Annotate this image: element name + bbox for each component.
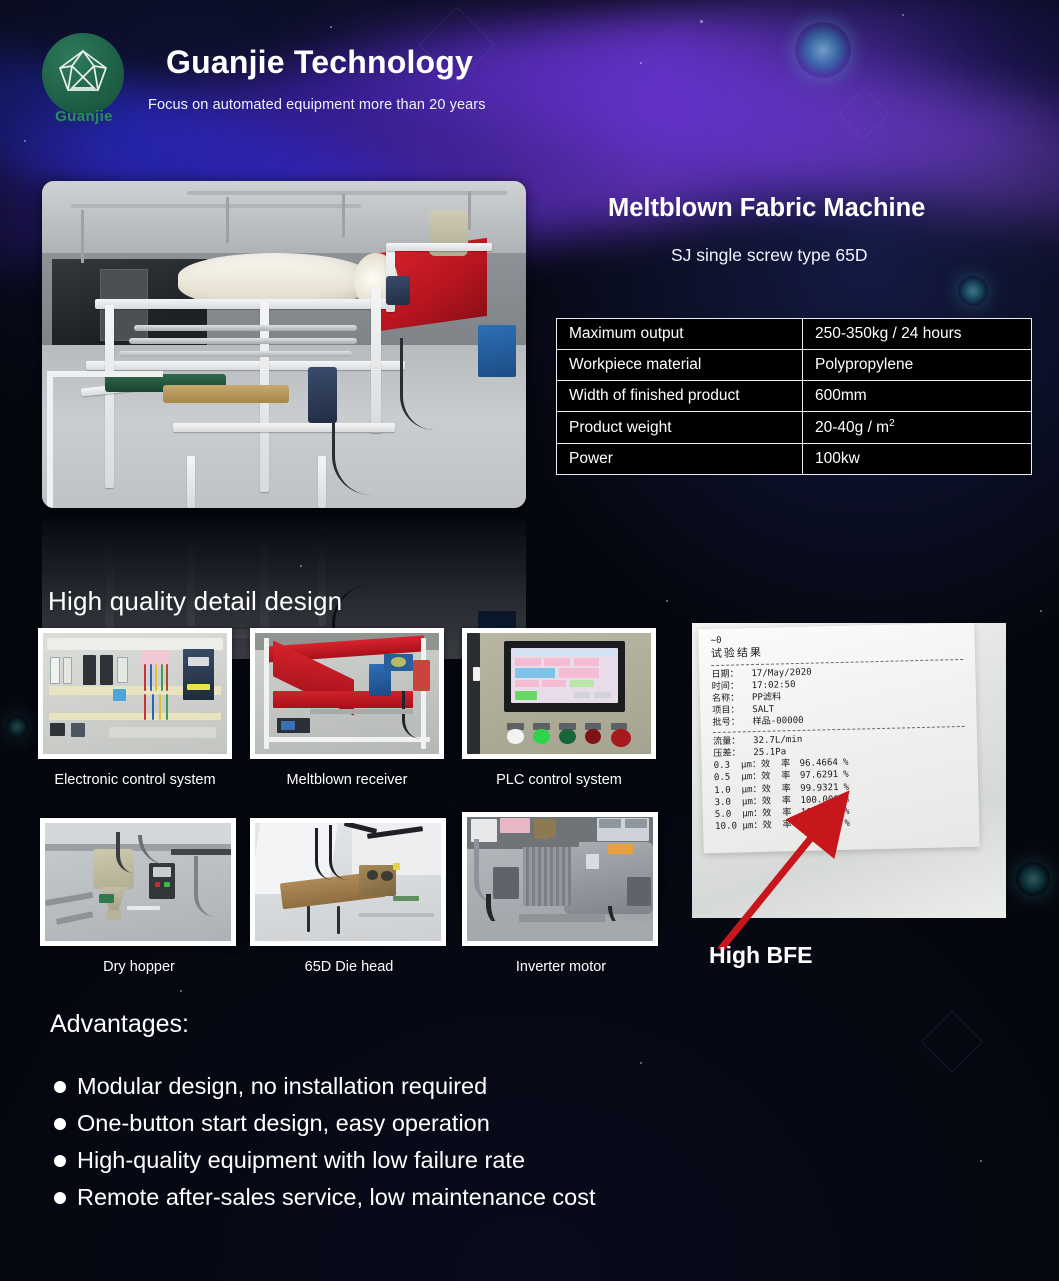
field-value: PP滤料 xyxy=(752,691,781,704)
bfe-label: High BFE xyxy=(709,942,813,969)
field-value: 样品-00000 xyxy=(753,715,804,728)
thumb-image xyxy=(467,817,653,941)
spec-value: 600mm xyxy=(803,381,1032,412)
gallery-caption: Electronic control system xyxy=(18,772,252,788)
list-item: High-quality equipment with low failure … xyxy=(54,1142,596,1179)
advantage-text: One-button start design, easy operation xyxy=(77,1110,490,1137)
sparkle-dot xyxy=(980,1160,982,1162)
table-row: Maximum output 250-350kg / 24 hours xyxy=(557,319,1032,350)
field-label: 日期： xyxy=(712,668,752,681)
spec-value: Polypropylene xyxy=(803,350,1032,381)
gallery-thumb-plc-control-system xyxy=(462,628,656,759)
advantages-list: Modular design, no installation required… xyxy=(54,1068,596,1216)
specification-table: Maximum output 250-350kg / 24 hours Work… xyxy=(556,318,1032,475)
advantage-text: High-quality equipment with low failure … xyxy=(77,1147,525,1174)
field-value: 17/May/2020 xyxy=(752,666,813,680)
bullet-icon xyxy=(54,1155,66,1167)
gallery-caption: Dry hopper xyxy=(22,959,256,975)
table-row: Power 100kw xyxy=(557,444,1032,475)
field-label: 批号： xyxy=(713,716,753,729)
spec-value: 250-350kg / 24 hours xyxy=(803,319,1032,350)
gallery-caption: 65D Die head xyxy=(232,959,466,975)
spec-value-exponent: 2 xyxy=(889,418,895,429)
efficiency-unit: % xyxy=(843,757,849,769)
factory-scene xyxy=(42,181,526,508)
sparkle-dot xyxy=(1040,610,1042,612)
table-row: Width of finished product 600mm xyxy=(557,381,1032,412)
bullet-icon xyxy=(54,1081,66,1093)
company-logo xyxy=(42,33,124,115)
sparkle-dot xyxy=(640,1062,642,1064)
page-header: Guanjie Guanjie Technology Focus on auto… xyxy=(0,0,1059,165)
spec-value: 20-40g / m2 xyxy=(803,412,1032,444)
advantage-text: Modular design, no installation required xyxy=(77,1073,487,1100)
thumb-image xyxy=(45,823,231,941)
spec-key: Power xyxy=(557,444,803,475)
efficiency-value: 96.4664 xyxy=(800,757,839,770)
field-label: 时间： xyxy=(712,680,752,693)
section-heading-detail-design: High quality detail design xyxy=(48,586,342,617)
sparkle-dot xyxy=(180,990,182,992)
gallery-caption: Meltblown receiver xyxy=(230,772,464,788)
gallery-thumb-inverter-motor xyxy=(462,812,658,946)
spec-key: Width of finished product xyxy=(557,381,803,412)
bullet-icon xyxy=(54,1192,66,1204)
company-name: Guanjie Technology xyxy=(166,44,473,81)
thumb-image xyxy=(467,633,651,754)
bullet-icon xyxy=(54,1118,66,1130)
field-label: 项目： xyxy=(713,704,753,717)
gallery-thumb-electronic-control-system xyxy=(38,628,232,759)
table-row: Workpiece material Polypropylene xyxy=(557,350,1032,381)
diamond-cube-icon xyxy=(55,46,111,102)
gallery-caption: PLC control system xyxy=(442,772,676,788)
field-label: 名称： xyxy=(712,692,752,705)
sparkle-dot xyxy=(666,600,668,602)
field-value: SALT xyxy=(753,704,775,717)
thumb-image xyxy=(43,633,227,754)
teal-glow-circle-icon xyxy=(958,276,988,306)
thumb-image xyxy=(255,633,439,754)
spec-key: Product weight xyxy=(557,412,803,444)
teal-glow-circle-icon xyxy=(1016,862,1050,896)
gallery-thumb-meltblown-receiver xyxy=(250,628,444,759)
spec-value-text: 20-40g / m xyxy=(815,419,889,436)
gallery-thumb-dry-hopper xyxy=(40,818,236,946)
list-item: Remote after-sales service, low maintena… xyxy=(54,1179,596,1216)
thumb-image xyxy=(255,823,441,941)
field-value: 17:02:50 xyxy=(752,679,796,692)
gallery-caption: Inverter motor xyxy=(444,959,678,975)
advantage-text: Remote after-sales service, low maintena… xyxy=(77,1184,596,1211)
gallery-thumb-die-head xyxy=(250,818,446,946)
page-title: Meltblown Fabric Machine xyxy=(608,194,925,223)
product-model-subtitle: SJ single screw type 65D xyxy=(671,245,867,266)
list-item: One-button start design, easy operation xyxy=(54,1105,596,1142)
field-label: 流量： xyxy=(713,735,753,748)
logo-wordmark: Guanjie xyxy=(44,108,124,125)
advantages-title: Advantages: xyxy=(50,1010,189,1039)
company-tagline: Focus on automated equipment more than 2… xyxy=(148,97,486,113)
field-label: 压差： xyxy=(714,747,754,760)
spec-key: Maximum output xyxy=(557,319,803,350)
field-value: 32.7L/min xyxy=(753,734,803,747)
red-pointer-arrow-icon xyxy=(690,780,870,960)
teal-glow-circle-icon xyxy=(6,716,28,738)
field-value: 25.1Pa xyxy=(754,747,787,760)
list-item: Modular design, no installation required xyxy=(54,1068,596,1105)
spec-value: 100kw xyxy=(803,444,1032,475)
hero-product-photo xyxy=(42,181,526,508)
spec-key: Workpiece material xyxy=(557,350,803,381)
table-row: Product weight 20-40g / m2 xyxy=(557,412,1032,444)
